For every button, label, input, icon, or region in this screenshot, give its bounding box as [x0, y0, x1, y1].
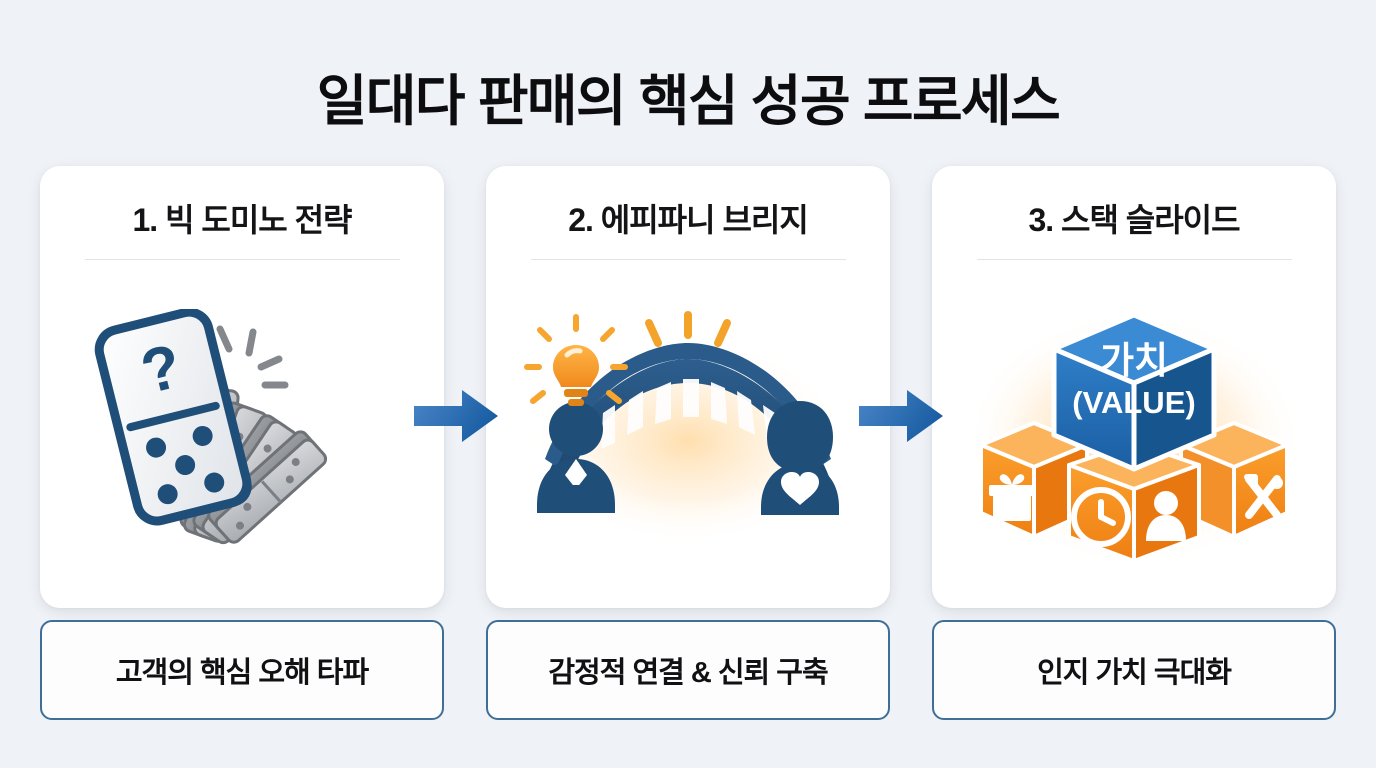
- step-card-2[interactable]: 2. 에피파니 브리지: [486, 166, 890, 608]
- value-cube-label-en: (VALUE): [1072, 385, 1195, 420]
- domino-question-icon: ?: [77, 309, 407, 559]
- infographic-page: 일대다 판매의 핵심 성공 프로세스 1. 빅 도미노 전략: [0, 0, 1376, 768]
- cube-value: 가치 (VALUE): [1054, 315, 1214, 469]
- caption-box-3[interactable]: 인지 가치 극대화: [932, 620, 1336, 720]
- step-card-1[interactable]: 1. 빅 도미노 전략: [40, 166, 444, 608]
- captions-row: 고객의 핵심 오해 타파 감정적 연결 & 신뢰 구축 인지 가치 극대화: [40, 620, 1336, 720]
- value-stack-cubes-icon: 가치 (VALUE): [959, 299, 1309, 569]
- caption-label-1: 고객의 핵심 오해 타파: [116, 649, 368, 691]
- arrow-right-icon: [859, 388, 943, 444]
- step-art-1: ?: [40, 260, 444, 608]
- step-art-3: 가치 (VALUE): [932, 260, 1336, 608]
- caption-box-1[interactable]: 고객의 핵심 오해 타파: [40, 620, 444, 720]
- arrow-step1-to-step2: [414, 388, 498, 444]
- steps-row: 1. 빅 도미노 전략: [40, 166, 1336, 608]
- step-title-2: 2. 에피파니 브리지: [568, 202, 808, 239]
- person-with-heart: [761, 401, 839, 515]
- value-cube-label-ko: 가치: [1100, 340, 1168, 381]
- page-title: 일대다 판매의 핵심 성공 프로세스: [0, 71, 1376, 132]
- bridge-connection-icon: [503, 309, 873, 559]
- arrow-right-icon: [414, 388, 498, 444]
- caption-label-3: 인지 가치 극대화: [1037, 649, 1231, 691]
- step-art-2: [486, 260, 890, 608]
- step-title-3: 3. 스택 슬라이드: [1028, 202, 1239, 239]
- arrow-step2-to-step3: [859, 388, 943, 444]
- step-card-3[interactable]: 3. 스택 슬라이드: [932, 166, 1336, 608]
- step-title-1: 1. 빅 도미노 전략: [133, 202, 352, 239]
- caption-label-2: 감정적 연결 & 신뢰 구축: [548, 649, 827, 691]
- caption-box-2[interactable]: 감정적 연결 & 신뢰 구축: [486, 620, 890, 720]
